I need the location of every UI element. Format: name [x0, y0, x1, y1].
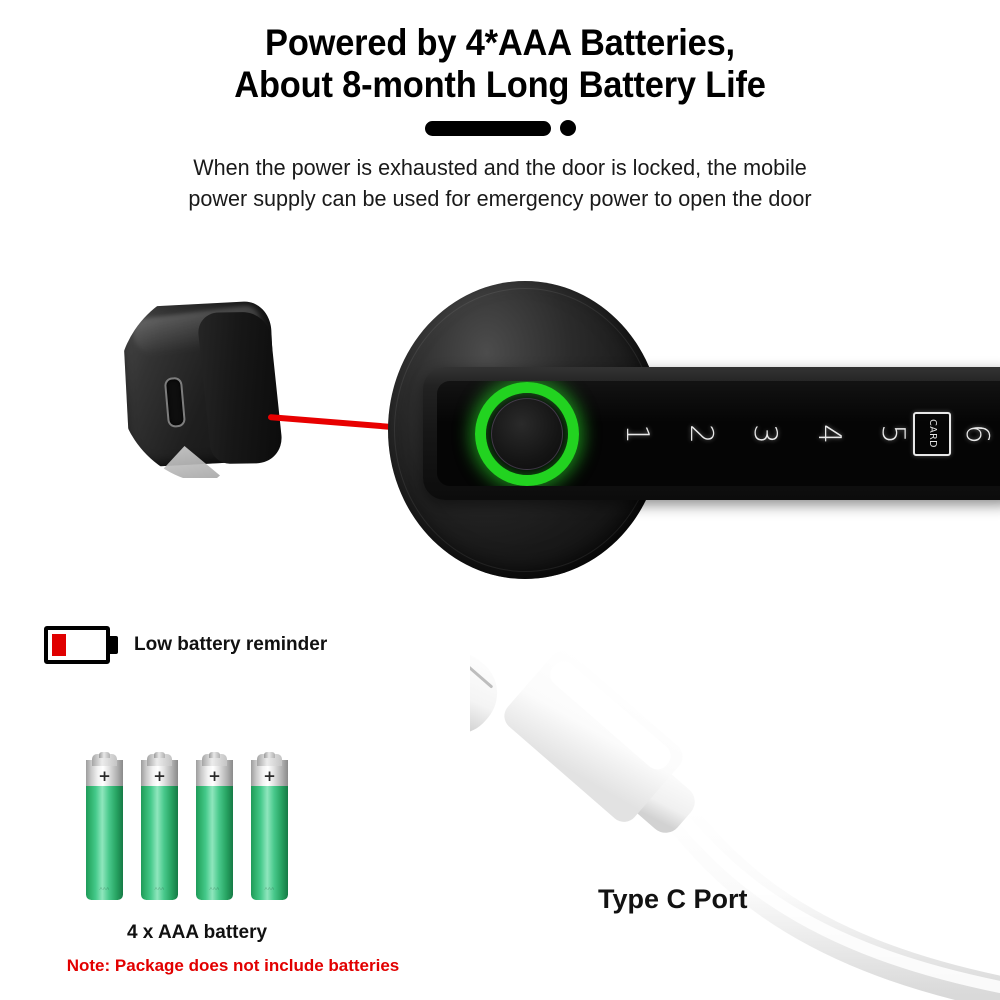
aaa-battery-terminal — [209, 752, 220, 758]
type-c-port-label: Type C Port — [598, 884, 748, 915]
aaa-battery-mark: AAA — [100, 886, 110, 891]
aaa-plus-symbol: + — [263, 769, 276, 784]
aaa-battery-terminal — [264, 752, 275, 758]
keypad-key-3[interactable]: 3 — [747, 402, 783, 466]
fingerprint-sensor-pad[interactable] — [491, 398, 563, 470]
low-battery-icon — [44, 626, 118, 664]
usb-c-port-closeup-inset — [118, 286, 316, 484]
aaa-battery-note: Note: Package does not include batteries — [0, 956, 466, 976]
aaa-battery-body — [141, 784, 178, 900]
aaa-battery-cell: + AAA — [86, 752, 123, 900]
lock-underside-body — [122, 300, 278, 468]
lock-keypad-surface: 1 2 3 4 5 CARD 6 7 8 — [437, 381, 1000, 486]
lock-underside-face — [196, 312, 284, 464]
keypad-key-6[interactable]: 6 — [959, 402, 995, 466]
divider-bar — [425, 121, 551, 136]
aaa-plus-symbol: + — [153, 769, 166, 784]
fingerprint-sensor-ring[interactable] — [475, 382, 579, 486]
usb-c-cable-photo — [470, 615, 1000, 1000]
usb-c-cable-svg — [470, 615, 1000, 1000]
keypad-key-2[interactable]: 2 — [683, 402, 719, 466]
subtitle-line-1: When the power is exhausted and the door… — [20, 152, 980, 183]
low-battery-label: Low battery reminder — [134, 634, 327, 656]
keypad-card-label: CARD — [927, 419, 938, 448]
aaa-battery-body — [86, 784, 123, 900]
infographic-page: Powered by 4*AAA Batteries, About 8-mont… — [0, 0, 1000, 1000]
aaa-battery-mark: AAA — [265, 886, 275, 891]
page-subtitle: When the power is exhausted and the door… — [20, 152, 980, 214]
product-photo-group: 1 2 3 4 5 CARD 6 7 8 — [0, 262, 1000, 592]
keypad-key-1[interactable]: 1 — [619, 402, 655, 466]
subtitle-line-2: power supply can be used for emergency p… — [20, 183, 980, 214]
divider-dot — [560, 120, 576, 136]
aaa-battery-mark: AAA — [210, 886, 220, 891]
aaa-battery-cell: + AAA — [251, 752, 288, 900]
lock-keypad-bar: 1 2 3 4 5 CARD 6 7 8 — [423, 367, 1000, 500]
aaa-battery-mark: AAA — [155, 886, 165, 891]
title-line-1: Powered by 4*AAA Batteries, — [35, 22, 965, 64]
usb-c-port-icon — [164, 377, 186, 428]
aaa-battery-body — [196, 784, 233, 900]
battery-positive-cap — [110, 636, 118, 654]
aaa-battery-caption: 4 x AAA battery — [0, 922, 394, 944]
title-divider-ornament — [0, 118, 1000, 138]
aaa-battery-terminal — [99, 752, 110, 758]
low-battery-reminder-row: Low battery reminder — [44, 626, 327, 664]
battery-low-fill-bar — [52, 634, 66, 656]
title-line-2: About 8-month Long Battery Life — [35, 64, 965, 106]
aaa-plus-symbol: + — [98, 769, 111, 784]
page-title: Powered by 4*AAA Batteries, About 8-mont… — [35, 22, 965, 106]
keypad-key-5[interactable]: 5 — [875, 402, 911, 466]
aaa-plus-symbol: + — [208, 769, 221, 784]
aaa-battery-body — [251, 784, 288, 900]
keypad-digit-row: 1 2 3 4 5 CARD 6 7 8 — [605, 381, 1000, 486]
usb-c-connector-tip — [470, 637, 513, 750]
aaa-battery-group: + AAA + AAA + AAA + AAA — [86, 752, 288, 900]
aaa-battery-cell: + AAA — [196, 752, 233, 900]
keypad-key-4[interactable]: 4 — [811, 402, 847, 466]
aaa-battery-terminal — [154, 752, 165, 758]
aaa-battery-cell: + AAA — [141, 752, 178, 900]
keypad-card-reader-icon[interactable]: CARD — [913, 412, 951, 456]
